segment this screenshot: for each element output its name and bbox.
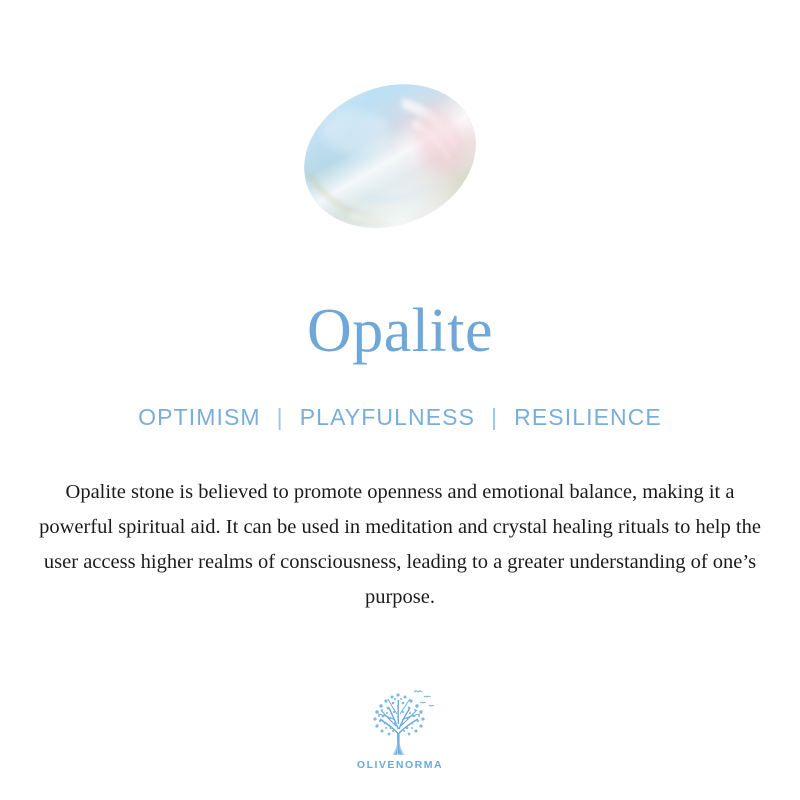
keyword-playfulness: PLAYFULNESS bbox=[300, 404, 475, 431]
stone-bloom bbox=[322, 110, 390, 154]
opalite-stone-image bbox=[298, 80, 482, 232]
keyword-resilience: RESILIENCE bbox=[514, 404, 662, 431]
brand-logo: OLIVENORMA bbox=[0, 686, 800, 771]
keyword-list: OPTIMISM | PLAYFULNESS | RESILIENCE bbox=[138, 404, 662, 431]
keyword-separator: | bbox=[475, 404, 514, 431]
keyword-separator: | bbox=[261, 404, 300, 431]
tree-of-life-icon bbox=[362, 686, 438, 756]
bird-icon bbox=[414, 691, 434, 706]
hero-image-area bbox=[0, 0, 800, 300]
keyword-optimism: OPTIMISM bbox=[138, 404, 261, 431]
page-title: Opalite bbox=[307, 300, 493, 362]
description-text: Opalite stone is believed to promote ope… bbox=[28, 475, 772, 615]
opalite-stone-svg bbox=[298, 80, 482, 232]
opalite-info-card: Opalite OPTIMISM | PLAYFULNESS | RESILIE… bbox=[0, 0, 800, 800]
brand-wordmark: OLIVENORMA bbox=[357, 759, 443, 771]
